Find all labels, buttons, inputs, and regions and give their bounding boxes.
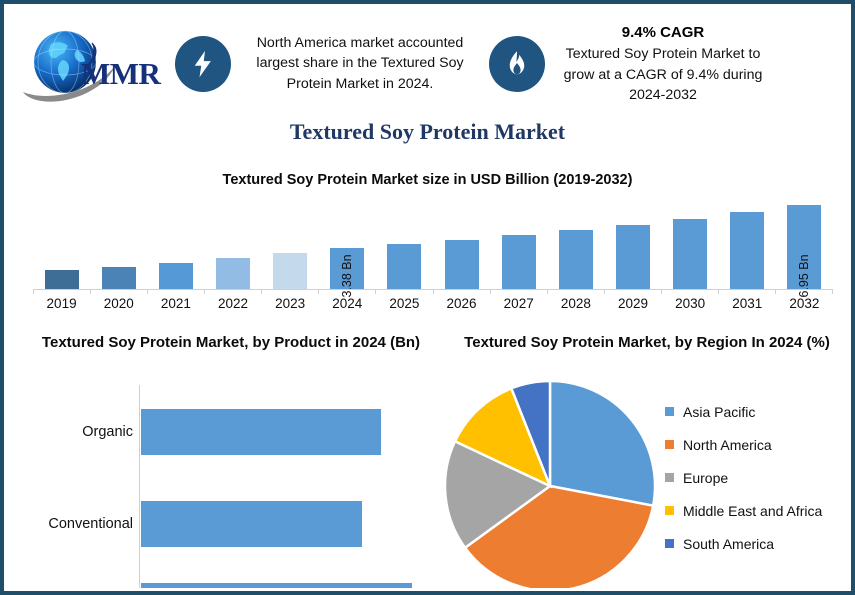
column-bar — [159, 263, 193, 289]
column-cell: 6.95 Bn — [776, 197, 833, 289]
product-category-label: Organic — [21, 424, 141, 440]
column-bar — [273, 253, 307, 289]
column-cell — [147, 197, 204, 289]
axis-tick — [375, 289, 432, 294]
column-category-label: 2022 — [204, 296, 261, 311]
flame-icon — [502, 49, 532, 79]
legend-swatch — [665, 440, 674, 449]
column-category-label: 2026 — [433, 296, 490, 311]
pie-legend: Asia PacificNorth AmericaEuropeMiddle Ea… — [665, 395, 848, 560]
legend-label: Asia Pacific — [683, 404, 755, 420]
column-category-label: 2027 — [490, 296, 547, 311]
product-bar-chart: Textured Soy Protein Market, by Product … — [21, 333, 441, 588]
header-right-text: 9.4% CAGR Textured Soy Protein Market to… — [545, 22, 781, 105]
axis-tick — [261, 289, 318, 294]
column-bar — [502, 235, 536, 289]
column-cell — [33, 197, 90, 289]
product-category-label: Conventional — [21, 516, 141, 532]
column-bar: 3.38 Bn — [330, 248, 364, 289]
axis-tick — [204, 289, 261, 294]
axis-tick — [718, 289, 775, 294]
column-category-label: 2032 — [776, 296, 833, 311]
mmr-logo: ) MMR — [15, 16, 175, 111]
column-bar — [216, 258, 250, 289]
column-bar — [45, 270, 79, 289]
legend-swatch — [665, 407, 674, 416]
column-category-labels: 2019202020212022202320242025202620272028… — [33, 296, 833, 311]
legend-swatch — [665, 473, 674, 482]
region-pie-chart: Textured Soy Protein Market, by Region I… — [437, 333, 848, 588]
market-size-column-chart: 3.38 Bn6.95 Bn 2019202020212022202320242… — [33, 197, 833, 317]
pie-chart-title: Textured Soy Protein Market, by Region I… — [437, 333, 848, 353]
lightning-bolt-icon — [188, 49, 218, 79]
column-cell: 3.38 Bn — [319, 197, 376, 289]
legend-item: North America — [665, 428, 848, 461]
column-bar: 6.95 Bn — [787, 205, 821, 289]
column-category-label: 2025 — [376, 296, 433, 311]
product-bar — [141, 409, 381, 455]
column-category-label: 2030 — [662, 296, 719, 311]
axis-tick — [547, 289, 604, 294]
column-cell — [490, 197, 547, 289]
infographic-page: ) MMR North America market accounted lar… — [0, 0, 855, 595]
column-category-label: 2029 — [604, 296, 661, 311]
header-bar: ) MMR North America market accounted lar… — [7, 7, 848, 120]
lightning-bolt-badge — [175, 36, 231, 92]
column-cell — [547, 197, 604, 289]
pie-slices — [443, 379, 657, 588]
column-bar — [730, 212, 764, 289]
column-category-label: 2023 — [262, 296, 319, 311]
product-bar-row: Non-GMO — [21, 583, 441, 588]
legend-label: Europe — [683, 470, 728, 486]
column-bar — [387, 244, 421, 289]
pie-slice — [550, 381, 655, 506]
axis-tick — [490, 289, 547, 294]
axis-tick — [33, 289, 90, 294]
axis-tick — [433, 289, 490, 294]
axis-tick — [147, 289, 204, 294]
column-category-label: 2028 — [547, 296, 604, 311]
column-category-label: 2019 — [33, 296, 90, 311]
legend-swatch — [665, 539, 674, 548]
legend-item: Asia Pacific — [665, 395, 848, 428]
legend-item: Europe — [665, 461, 848, 494]
flame-badge — [489, 36, 545, 92]
product-plot-area: OrganicConventionalNon-GMO — [21, 385, 441, 588]
column-bar — [673, 219, 707, 289]
legend-item: South America — [665, 527, 848, 560]
cagr-description: Textured Soy Protein Market to grow at a… — [564, 46, 763, 102]
content-area: ) MMR North America market accounted lar… — [7, 7, 848, 588]
column-bar — [445, 240, 479, 289]
column-cell — [90, 197, 147, 289]
column-category-label: 2021 — [147, 296, 204, 311]
axis-tick — [318, 289, 375, 294]
column-cell — [204, 197, 261, 289]
column-cell — [433, 197, 490, 289]
product-chart-title: Textured Soy Protein Market, by Product … — [21, 333, 441, 353]
page-title: Textured Soy Protein Market — [7, 119, 848, 145]
header-left-text: North America market accounted largest s… — [231, 33, 489, 93]
product-bar — [141, 501, 362, 547]
column-cell — [662, 197, 719, 289]
column-cell — [719, 197, 776, 289]
axis-tick — [604, 289, 661, 294]
column-bar — [559, 230, 593, 289]
legend-label: Middle East and Africa — [683, 503, 822, 519]
column-axis-ticks — [33, 289, 833, 294]
product-bar — [141, 583, 412, 588]
pie-graphic — [443, 379, 657, 588]
product-bar-row: Organic — [21, 409, 441, 455]
legend-item: Middle East and Africa — [665, 494, 848, 527]
column-category-label: 2031 — [719, 296, 776, 311]
product-bar-row: Conventional — [21, 501, 441, 547]
legend-label: North America — [683, 437, 772, 453]
column-category-label: 2024 — [319, 296, 376, 311]
column-bar — [616, 225, 650, 289]
axis-tick — [775, 289, 833, 294]
column-cell — [262, 197, 319, 289]
cagr-headline: 9.4% CAGR — [549, 22, 777, 43]
column-bar — [102, 267, 136, 289]
logo-brand-text: MMR — [81, 56, 160, 92]
column-cell — [604, 197, 661, 289]
axis-tick — [661, 289, 718, 294]
legend-label: South America — [683, 536, 774, 552]
axis-tick — [90, 289, 147, 294]
column-chart-title: Textured Soy Protein Market size in USD … — [7, 172, 848, 188]
legend-swatch — [665, 506, 674, 515]
column-category-label: 2020 — [90, 296, 147, 311]
column-plot-area: 3.38 Bn6.95 Bn — [33, 197, 833, 289]
column-cell — [376, 197, 433, 289]
